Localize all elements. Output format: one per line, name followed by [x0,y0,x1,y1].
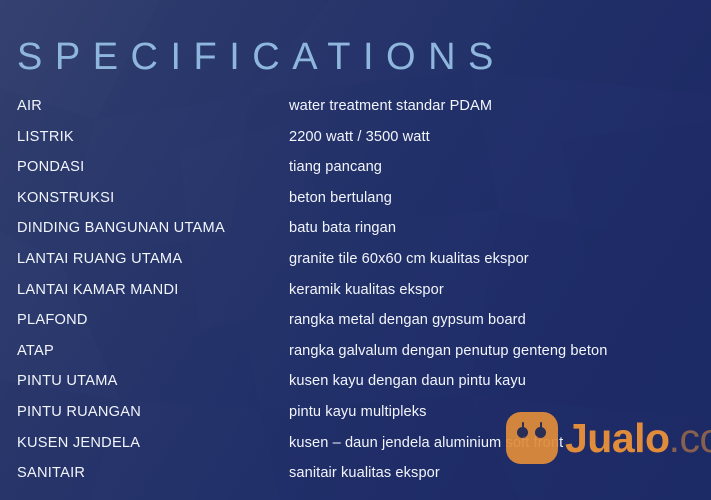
spec-label: PONDASI [17,157,84,178]
table-row: ATAP rangka galvalum dengan penutup gent… [0,341,711,372]
spec-label: LANTAI KAMAR MANDI [17,280,179,301]
spec-value: rangka metal dengan gypsum board [289,310,526,331]
spec-value: keramik kualitas ekspor [289,280,444,301]
specifications-table: AIR water treatment standar PDAM LISTRIK… [0,96,711,494]
spec-value: kusen – daun jendela aluminium soft fron… [289,433,563,454]
spec-value: beton bertulang [289,188,392,209]
spec-value: pintu kayu multipleks [289,402,427,423]
table-row: LANTAI RUANG UTAMA granite tile 60x60 cm… [0,249,711,280]
specifications-page: SPECIFICATIONS AIR water treatment stand… [0,0,711,500]
spec-value: kusen kayu dengan daun pintu kayu [289,371,526,392]
table-row: LISTRIK 2200 watt / 3500 watt [0,127,711,158]
table-row: PLAFOND rangka metal dengan gypsum board [0,310,711,341]
spec-label: LISTRIK [17,127,74,148]
table-row: DINDING BANGUNAN UTAMA batu bata ringan [0,218,711,249]
spec-value: water treatment standar PDAM [289,96,492,117]
spec-label: ATAP [17,341,54,362]
table-row: KONSTRUKSI beton bertulang [0,188,711,219]
table-row: LANTAI KAMAR MANDI keramik kualitas eksp… [0,280,711,311]
spec-label: LANTAI RUANG UTAMA [17,249,182,270]
table-row: PINTU RUANGAN pintu kayu multipleks [0,402,711,433]
table-row: PONDASI tiang pancang [0,157,711,188]
table-row: AIR water treatment standar PDAM [0,96,711,127]
spec-value: sanitair kualitas ekspor [289,463,440,484]
spec-label: KUSEN JENDELA [17,433,140,454]
spec-value: tiang pancang [289,157,382,178]
spec-label: KONSTRUKSI [17,188,114,209]
page-title: SPECIFICATIONS [17,33,506,81]
spec-value: rangka galvalum dengan penutup genteng b… [289,341,607,362]
spec-label: PINTU UTAMA [17,371,118,392]
table-row: KUSEN JENDELA kusen – daun jendela alumi… [0,433,711,464]
spec-value: 2200 watt / 3500 watt [289,127,430,148]
spec-label: DINDING BANGUNAN UTAMA [17,218,225,239]
spec-label: PLAFOND [17,310,88,331]
spec-label: AIR [17,96,42,117]
spec-label: PINTU RUANGAN [17,402,141,423]
spec-value: batu bata ringan [289,218,396,239]
spec-value: granite tile 60x60 cm kualitas ekspor [289,249,529,270]
table-row: SANITAIR sanitair kualitas ekspor [0,463,711,494]
table-row: PINTU UTAMA kusen kayu dengan daun pintu… [0,371,711,402]
spec-label: SANITAIR [17,463,85,484]
